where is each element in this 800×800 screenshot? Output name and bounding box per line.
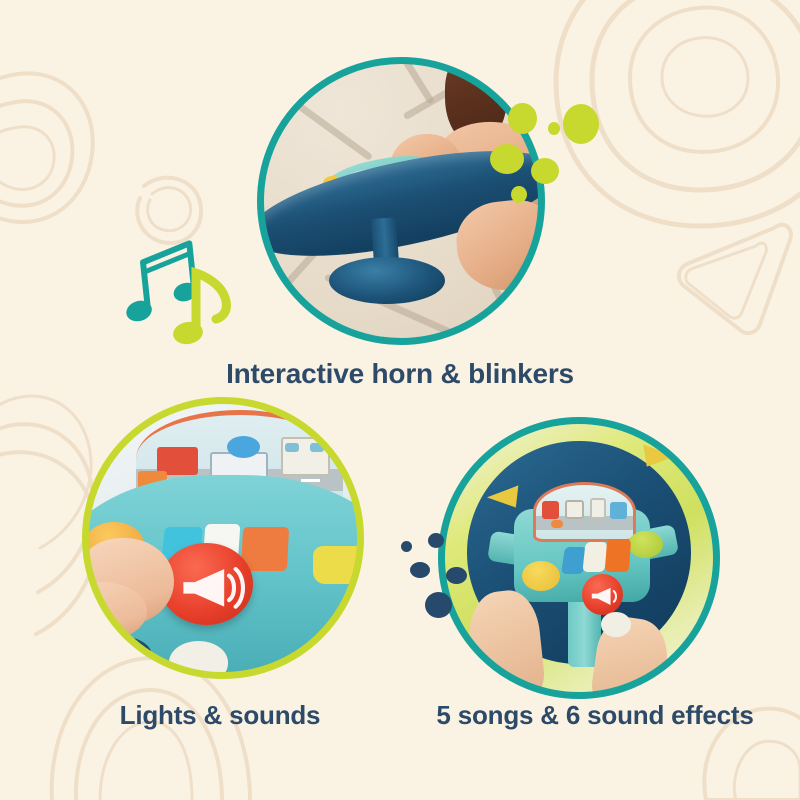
- caption-top: Interactive horn & blinkers: [0, 358, 800, 390]
- navy-accent-dot: [428, 533, 444, 548]
- lime-accent-dot: [511, 186, 527, 203]
- blinker-light-white[interactable]: [583, 542, 608, 572]
- lime-accent-dot: [548, 122, 560, 135]
- doodle-concentric-circles-left: [0, 73, 93, 222]
- lime-round-button[interactable]: [628, 531, 663, 558]
- photo-lights-and-sounds: [87, 402, 359, 674]
- panel-top-photo: [262, 62, 540, 340]
- horn-icon: [160, 543, 252, 625]
- doodle-concentric-arcs-left: [0, 396, 97, 634]
- music-note-decoration: [120, 225, 250, 350]
- navy-accent-dot: [401, 541, 412, 552]
- panel-bottom-left-photo: [87, 402, 359, 674]
- lime-accent-dot: [531, 158, 559, 184]
- wheel-knob[interactable]: [601, 612, 631, 636]
- wheel-base: [329, 257, 446, 304]
- yellow-round-button[interactable]: [522, 561, 560, 591]
- navy-accent-dot: [410, 562, 430, 578]
- photo-interactive-horn-blinkers: [262, 62, 540, 340]
- horn-button[interactable]: [582, 574, 623, 615]
- vehicle-scene-screen: [533, 482, 636, 542]
- toy-dog-character: [227, 436, 260, 458]
- lime-accent-dot: [490, 144, 524, 174]
- lime-accent-dot: [563, 104, 599, 144]
- music-note-icon: [171, 273, 226, 346]
- doodle-spiral-triangle: [679, 225, 791, 333]
- infographic-canvas: Interactive horn & blinkers: [0, 0, 800, 800]
- navy-accent-dot: [446, 567, 467, 584]
- wheel-rim-edge: [87, 636, 152, 674]
- blinker-light-blue[interactable]: [561, 547, 587, 574]
- yellow-button[interactable]: [313, 546, 359, 584]
- lime-accent-dot: [508, 103, 537, 134]
- music-note-icon: [120, 243, 202, 325]
- navy-accent-dot: [425, 592, 452, 618]
- horn-icon: [582, 574, 623, 615]
- caption-bottom-right: 5 songs & 6 sound effects: [390, 700, 800, 731]
- photo-songs-sound-effects: [443, 422, 715, 694]
- panel-bottom-right-photo: [443, 422, 715, 694]
- caption-bottom-left: Lights & sounds: [0, 700, 440, 731]
- blinker-light-orange[interactable]: [605, 539, 632, 572]
- horn-button[interactable]: [160, 543, 252, 625]
